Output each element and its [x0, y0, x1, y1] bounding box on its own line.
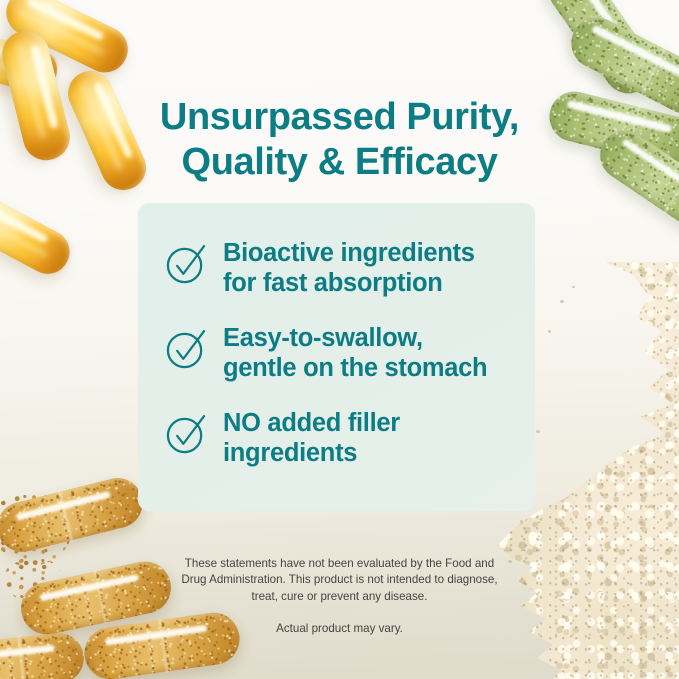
benefit-label: NO added filler ingredients: [223, 409, 400, 468]
benefits-card: Bioactive ingredients for fast absorptio…: [138, 203, 535, 511]
powder-fleck: [572, 286, 575, 288]
turmeric-capsule: [0, 631, 86, 679]
turmeric-capsule: [81, 609, 243, 679]
page-title-line-2: Quality & Efficacy: [120, 140, 559, 184]
page-title-line-1: Unsurpassed Purity,: [160, 96, 519, 138]
powder-fleck: [520, 520, 523, 523]
turmeric-capsule: [0, 473, 148, 557]
softgel-capsule: [0, 0, 136, 80]
benefit-item: Easy-to-swallow, gentle on the stomach: [165, 324, 505, 383]
softgel-capsule: [0, 27, 62, 96]
check-circle-icon: [165, 412, 208, 455]
benefit-item: NO added filler ingredients: [165, 409, 505, 468]
benefit-label: Easy-to-swallow, gentle on the stomach: [223, 324, 487, 383]
product-variation-note: Actual product may vary.: [0, 622, 679, 635]
check-circle-icon: [165, 327, 208, 370]
spilled-powder-granules: [0, 492, 72, 566]
powder-fleck: [536, 430, 540, 433]
green-capsule: [539, 0, 664, 103]
benefit-item: Bioactive ingredients for fast absorptio…: [165, 239, 505, 298]
softgel-capsule: [0, 186, 77, 281]
benefit-label: Bioactive ingredients for fast absorptio…: [223, 239, 475, 298]
powder-fleck: [560, 300, 564, 303]
product-infographic: Unsurpassed Purity, Quality & Efficacy B…: [0, 0, 679, 679]
powder-fleck: [548, 330, 551, 333]
fda-disclaimer: These statements have not been evaluated…: [0, 556, 679, 605]
check-circle-icon: [165, 242, 208, 285]
page-title: Unsurpassed Purity, Quality & Efficacy: [0, 95, 679, 184]
